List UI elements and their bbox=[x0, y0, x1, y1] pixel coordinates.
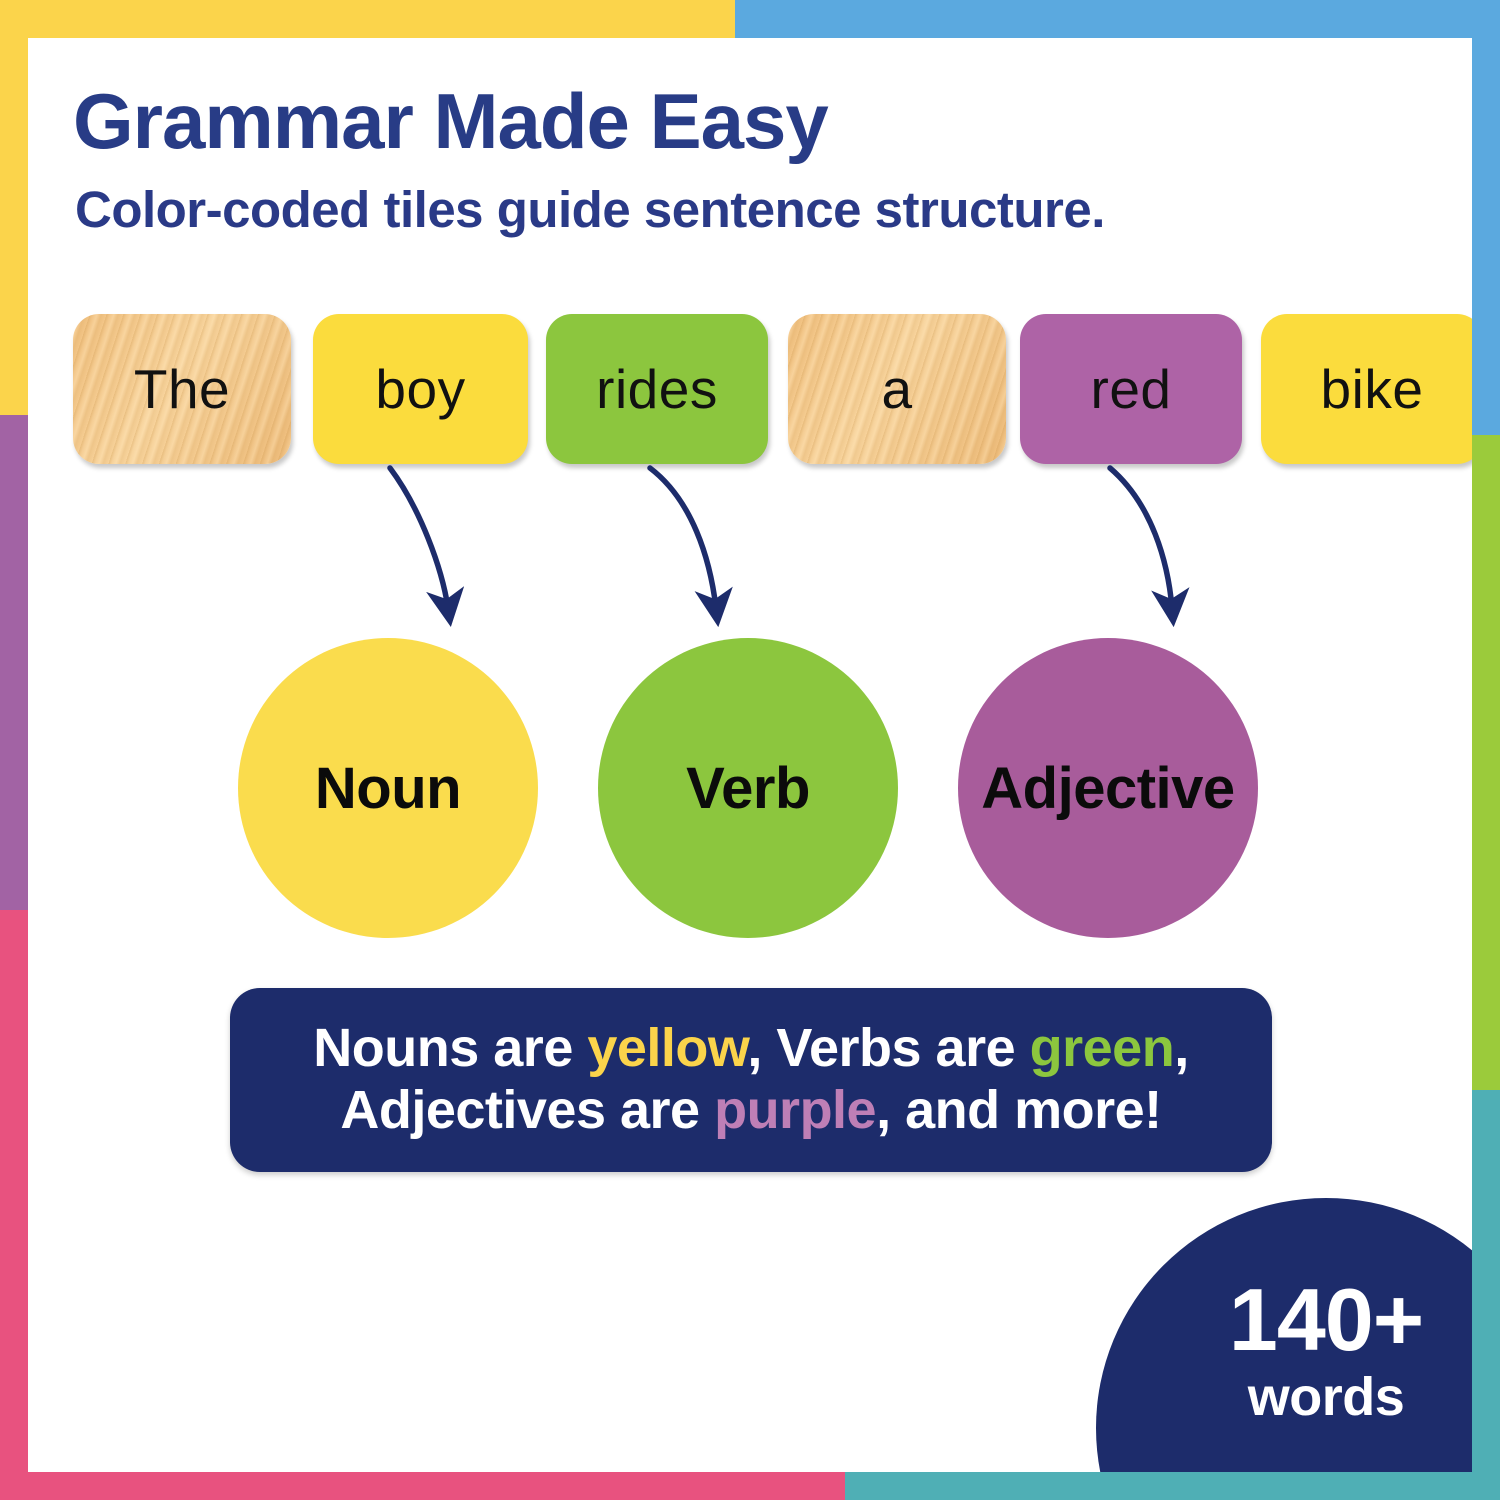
category-label: Adjective bbox=[981, 755, 1234, 822]
word-tile-label: red bbox=[1091, 357, 1172, 421]
border-block-left-purple bbox=[0, 415, 28, 910]
category-circle-verb[interactable]: Verb bbox=[598, 638, 898, 938]
word-tile-red[interactable]: red bbox=[1020, 314, 1242, 464]
callout-keyword-purple: purple bbox=[714, 1080, 876, 1140]
callout-text-comma: , bbox=[1174, 1018, 1189, 1078]
color-key-callout: Nouns are yellow, Verbs are green, Adjec… bbox=[230, 988, 1272, 1172]
word-tile-label: boy bbox=[375, 357, 465, 421]
word-tile-rides[interactable]: rides bbox=[546, 314, 768, 464]
border-block-right-teal bbox=[1472, 1090, 1500, 1500]
word-count-badge: 140+ words bbox=[1096, 1198, 1472, 1472]
word-tile-label: a bbox=[881, 357, 912, 421]
callout-text-and-more: , and more! bbox=[876, 1080, 1162, 1140]
word-tile-a[interactable]: a bbox=[788, 314, 1006, 464]
border-block-left-yellow bbox=[0, 0, 28, 415]
callout-line-1: Nouns are yellow, Verbs are green, bbox=[313, 1018, 1188, 1080]
category-circle-adjective[interactable]: Adjective bbox=[958, 638, 1258, 938]
border-block-right-green bbox=[1472, 435, 1500, 1090]
callout-keyword-green: green bbox=[1030, 1018, 1175, 1078]
word-count-label: words bbox=[1248, 1368, 1405, 1427]
arrow-red-to-adjective bbox=[1110, 468, 1172, 608]
content-card: Grammar Made Easy Color-coded tiles guid… bbox=[28, 38, 1472, 1472]
word-count-value: 140+ bbox=[1229, 1276, 1423, 1364]
word-tile-boy[interactable]: boy bbox=[313, 314, 528, 464]
word-tile-bike[interactable]: bike bbox=[1261, 314, 1472, 464]
word-tile-label: The bbox=[134, 357, 230, 421]
page-title: Grammar Made Easy bbox=[73, 76, 828, 167]
category-circle-noun[interactable]: Noun bbox=[238, 638, 538, 938]
callout-text-nouns-are: Nouns are bbox=[313, 1018, 587, 1078]
category-label: Verb bbox=[686, 755, 810, 822]
word-tile-label: bike bbox=[1321, 357, 1424, 421]
callout-line-2: Adjectives are purple, and more! bbox=[340, 1080, 1161, 1142]
border-block-bottom-pink bbox=[0, 1472, 845, 1500]
border-block-right-blue bbox=[1472, 0, 1500, 435]
page-subtitle: Color-coded tiles guide sentence structu… bbox=[75, 180, 1105, 239]
arrow-boy-to-noun bbox=[390, 468, 448, 608]
category-label: Noun bbox=[315, 755, 461, 822]
word-tile-the[interactable]: The bbox=[73, 314, 291, 464]
callout-text-verbs-are: , Verbs are bbox=[747, 1018, 1029, 1078]
callout-text-adjectives-are: Adjectives are bbox=[340, 1080, 714, 1140]
callout-keyword-yellow: yellow bbox=[587, 1018, 747, 1078]
promo-graphic: Grammar Made Easy Color-coded tiles guid… bbox=[0, 0, 1500, 1500]
border-block-bottom-teal bbox=[845, 1472, 1500, 1500]
border-block-top-blue bbox=[735, 0, 1500, 38]
border-block-left-pink bbox=[0, 910, 28, 1500]
border-block-top-yellow bbox=[0, 0, 735, 38]
arrow-rides-to-verb bbox=[650, 468, 716, 608]
word-tile-label: rides bbox=[596, 357, 718, 421]
